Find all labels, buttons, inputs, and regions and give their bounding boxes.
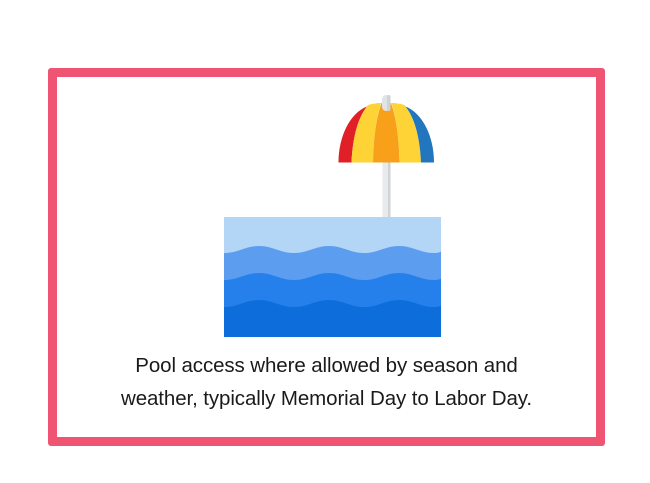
caption-line-2: weather, typically Memorial Day to Labor… (57, 382, 596, 415)
framed-card: Pool access where allowed by season and … (48, 68, 605, 446)
umbrella-canopy (339, 103, 435, 163)
caption-line-1: Pool access where allowed by season and (57, 349, 596, 382)
water-band-deep (224, 300, 441, 337)
umbrella-knob-icon (382, 95, 391, 111)
caption-text: Pool access where allowed by season and … (57, 349, 596, 415)
pool-water (224, 217, 441, 337)
poster-canvas: Pool access where allowed by season and … (0, 0, 650, 483)
